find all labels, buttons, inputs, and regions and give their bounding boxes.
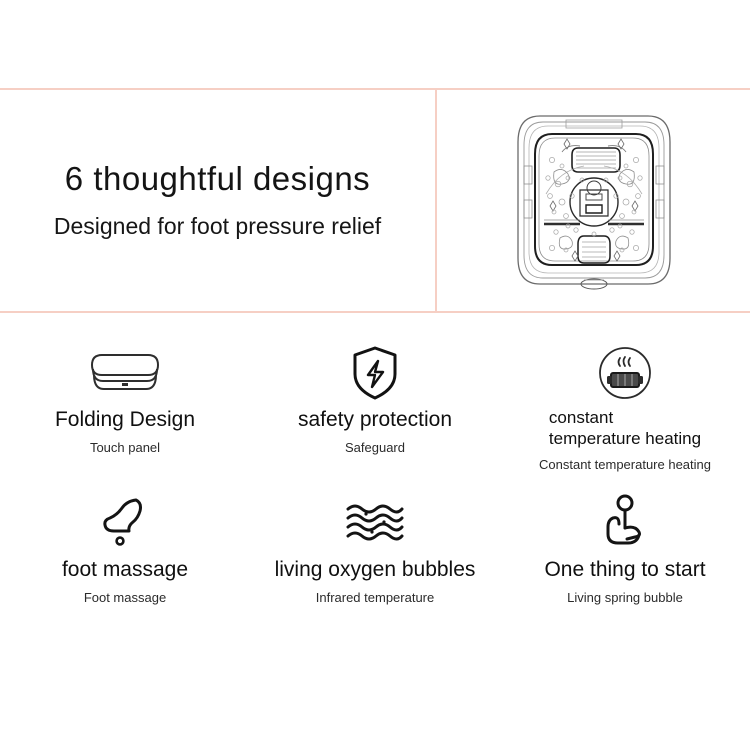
hero-text-panel: 6 thoughtful designs Designed for foot p… [0, 90, 437, 311]
feature-foot-massage: foot massage Foot massage [0, 490, 250, 640]
feature-folding-design: Folding Design Touch panel [0, 340, 250, 490]
feature-subtitle: Living spring bubble [567, 590, 683, 606]
feature-title: foot massage [62, 558, 188, 582]
shield-bolt-icon [349, 344, 401, 402]
foot-roller-icon [98, 494, 152, 552]
feature-grid: Folding Design Touch panel safety protec… [0, 340, 750, 640]
feature-title-line2: temperature heating [549, 429, 701, 448]
feature-title: safety protection [298, 408, 452, 432]
feature-title: living oxygen bubbles [275, 558, 476, 582]
feature-title: Folding Design [55, 408, 195, 432]
heating-element-steam-icon [597, 344, 653, 402]
foot-spa-basin-icon [510, 108, 678, 293]
feature-subtitle: Foot massage [84, 590, 166, 606]
feature-one-thing-to-start: One thing to start Living spring bubble [500, 490, 750, 640]
hand-tap-icon [600, 494, 650, 552]
feature-title: One thing to start [544, 558, 705, 582]
feature-subtitle: Constant temperature heating [539, 457, 711, 473]
feature-constant-temperature-heating: constanttemperature heating Constant tem… [500, 340, 750, 490]
product-image-panel [437, 90, 750, 311]
page-title: 6 thoughtful designs [65, 161, 370, 197]
folding-basin-icon [86, 344, 164, 402]
feature-title: constanttemperature heating [549, 408, 701, 449]
feature-subtitle: Touch panel [90, 440, 160, 456]
hero-banner: 6 thoughtful designs Designed for foot p… [0, 88, 750, 313]
water-waves-bubbles-icon [344, 494, 406, 552]
feature-subtitle: Safeguard [345, 440, 405, 456]
page-subtitle: Designed for foot pressure relief [54, 213, 381, 241]
feature-living-oxygen-bubbles: living oxygen bubbles Infrared temperatu… [250, 490, 500, 640]
feature-subtitle: Infrared temperature [316, 590, 435, 606]
feature-title-line1: constant [549, 408, 613, 427]
feature-safety-protection: safety protection Safeguard [250, 340, 500, 490]
